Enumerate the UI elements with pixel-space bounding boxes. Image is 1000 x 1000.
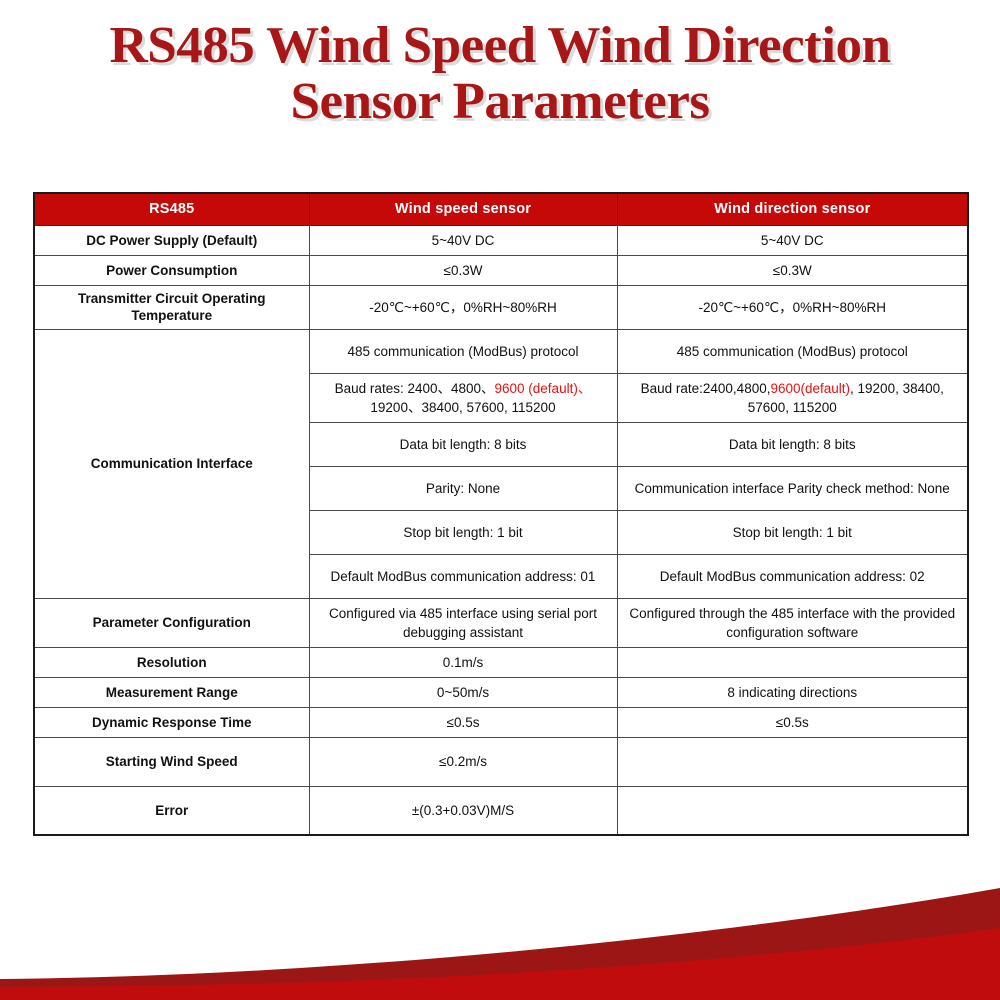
cell-modbus-address-wind-direction: Default ModBus communication address: 02 (617, 554, 968, 598)
cell-starting-wind-speed-wind-speed: ≤0.2m/s (309, 737, 617, 786)
table-header-row: RS485 Wind speed sensor Wind direction s… (34, 193, 968, 225)
baud-rate-default-highlight: 9600 (default)、 (495, 381, 592, 396)
bottom-decoration-swoosh (0, 880, 1000, 1000)
table-row: Dynamic Response Time ≤0.5s ≤0.5s (34, 707, 968, 737)
cell-parameter-configuration-wind-speed: Configured via 485 interface using seria… (309, 598, 617, 647)
cell-data-bit-length-wind-direction: Data bit length: 8 bits (617, 422, 968, 466)
cell-dynamic-response-time-wind-direction: ≤0.5s (617, 707, 968, 737)
cell-dynamic-response-time-wind-speed: ≤0.5s (309, 707, 617, 737)
row-label-measurement-range: Measurement Range (34, 677, 309, 707)
cell-parity-wind-speed: Parity: None (309, 466, 617, 510)
cell-baud-rate-wind-speed: Baud rates: 2400、4800、9600 (default)、192… (309, 373, 617, 422)
page-title-line-1: RS485 Wind Speed Wind Direction (0, 18, 1000, 74)
specifications-table: RS485 Wind speed sensor Wind direction s… (33, 192, 969, 836)
cell-resolution-wind-speed: 0.1m/s (309, 647, 617, 677)
cell-starting-wind-speed-wind-direction (617, 737, 968, 786)
table-row: Parameter Configuration Configured via 4… (34, 598, 968, 647)
cell-dc-power-supply-wind-direction: 5~40V DC (617, 225, 968, 255)
cell-resolution-wind-direction (617, 647, 968, 677)
row-label-parameter-configuration: Parameter Configuration (34, 598, 309, 647)
table-row: Communication Interface 485 communicatio… (34, 329, 968, 373)
cell-measurement-range-wind-speed: 0~50m/s (309, 677, 617, 707)
row-label-resolution: Resolution (34, 647, 309, 677)
table-row: Power Consumption ≤0.3W ≤0.3W (34, 255, 968, 285)
cell-error-wind-speed: ±(0.3+0.03V)M/S (309, 786, 617, 835)
table-row: Transmitter Circuit Operating Temperatur… (34, 285, 968, 329)
cell-comm-protocol-wind-direction: 485 communication (ModBus) protocol (617, 329, 968, 373)
cell-comm-protocol-wind-speed: 485 communication (ModBus) protocol (309, 329, 617, 373)
row-label-starting-wind-speed: Starting Wind Speed (34, 737, 309, 786)
cell-operating-temperature-wind-speed: -20℃~+60℃，0%RH~80%RH (309, 285, 617, 329)
baud-rate-suffix: 19200、38400, 57600, 115200 (370, 400, 555, 415)
row-label-dynamic-response-time: Dynamic Response Time (34, 707, 309, 737)
row-label-error: Error (34, 786, 309, 835)
cell-parity-wind-direction: Communication interface Parity check met… (617, 466, 968, 510)
cell-operating-temperature-wind-direction: -20℃~+60℃，0%RH~80%RH (617, 285, 968, 329)
baud-rate-prefix: Baud rate:2400,4800, (641, 381, 771, 396)
table-header: RS485 Wind speed sensor Wind direction s… (34, 193, 968, 225)
table-row: Resolution 0.1m/s (34, 647, 968, 677)
page-title: RS485 Wind Speed Wind Direction Sensor P… (0, 18, 1000, 130)
table-row: Error ±(0.3+0.03V)M/S (34, 786, 968, 835)
cell-modbus-address-wind-speed: Default ModBus communication address: 01 (309, 554, 617, 598)
column-header-rs485: RS485 (34, 193, 309, 225)
page-title-line-2: Sensor Parameters (0, 74, 1000, 130)
column-header-wind-direction-sensor: Wind direction sensor (617, 193, 968, 225)
cell-parameter-configuration-wind-direction: Configured through the 485 interface wit… (617, 598, 968, 647)
row-label-power-consumption: Power Consumption (34, 255, 309, 285)
cell-measurement-range-wind-direction: 8 indicating directions (617, 677, 968, 707)
baud-rate-default-highlight: 9600(default) (770, 381, 850, 396)
column-header-wind-speed-sensor: Wind speed sensor (309, 193, 617, 225)
table-row: DC Power Supply (Default) 5~40V DC 5~40V… (34, 225, 968, 255)
swoosh-back-band (0, 888, 1000, 1000)
cell-data-bit-length-wind-speed: Data bit length: 8 bits (309, 422, 617, 466)
table-body: DC Power Supply (Default) 5~40V DC 5~40V… (34, 225, 968, 835)
cell-error-wind-direction (617, 786, 968, 835)
swoosh-front-band (0, 928, 1000, 1000)
baud-rate-prefix: Baud rates: 2400、4800、 (335, 381, 495, 396)
cell-power-consumption-wind-speed: ≤0.3W (309, 255, 617, 285)
cell-power-consumption-wind-direction: ≤0.3W (617, 255, 968, 285)
cell-stop-bit-length-wind-direction: Stop bit length: 1 bit (617, 510, 968, 554)
table-row: Starting Wind Speed ≤0.2m/s (34, 737, 968, 786)
row-label-operating-temperature: Transmitter Circuit Operating Temperatur… (34, 285, 309, 329)
cell-dc-power-supply-wind-speed: 5~40V DC (309, 225, 617, 255)
row-label-dc-power-supply: DC Power Supply (Default) (34, 225, 309, 255)
row-label-communication-interface: Communication Interface (34, 329, 309, 598)
cell-stop-bit-length-wind-speed: Stop bit length: 1 bit (309, 510, 617, 554)
cell-baud-rate-wind-direction: Baud rate:2400,4800,9600(default), 19200… (617, 373, 968, 422)
table-row: Measurement Range 0~50m/s 8 indicating d… (34, 677, 968, 707)
